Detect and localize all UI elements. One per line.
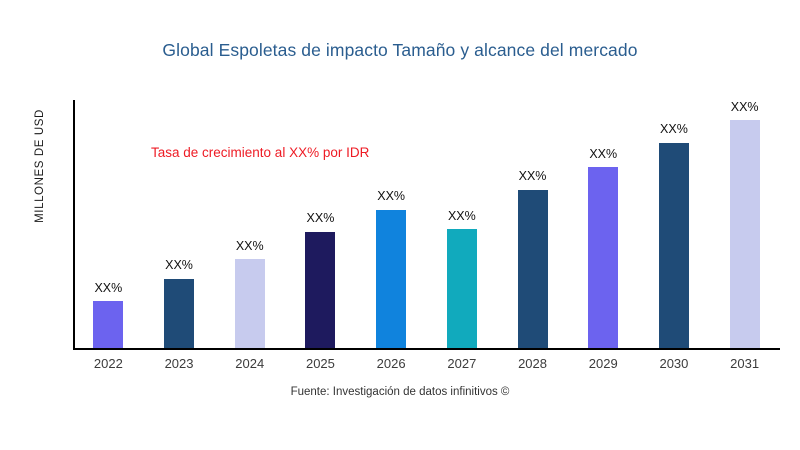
bar-value-label-2025: XX%	[307, 212, 335, 225]
bar-2030[interactable]	[659, 143, 689, 349]
x-tick-2029: 2029	[568, 356, 639, 371]
bar-value-label-2030: XX%	[660, 123, 688, 136]
x-axis-tick-labels: 2022202320242025202620272028202920302031	[73, 356, 780, 378]
bar-2023[interactable]	[164, 279, 194, 348]
bar-group-2028: XX%	[497, 100, 568, 348]
y-axis-label: MILLONES DE USD	[34, 66, 46, 266]
bar-series: XX%XX%XX%XX%XX%XX%XX%XX%XX%XX%	[73, 100, 780, 348]
x-tick-2022: 2022	[73, 356, 144, 371]
x-tick-2026: 2026	[356, 356, 427, 371]
bar-value-label-2029: XX%	[589, 148, 617, 161]
bar-value-label-2027: XX%	[448, 210, 476, 223]
x-axis-line	[73, 348, 780, 350]
bar-group-2023: XX%	[144, 100, 215, 348]
plot-area: Tasa de crecimiento al XX% por IDR XX%XX…	[73, 100, 780, 350]
bar-value-label-2028: XX%	[519, 170, 547, 183]
bar-value-label-2031: XX%	[731, 101, 759, 114]
x-tick-2028: 2028	[497, 356, 568, 371]
bar-2028[interactable]	[518, 190, 548, 349]
page-title: Global Espoletas de impacto Tamaño y alc…	[0, 40, 800, 61]
bar-group-2029: XX%	[568, 100, 639, 348]
bar-2029[interactable]	[588, 167, 618, 348]
bar-2022[interactable]	[93, 301, 123, 348]
bar-group-2031: XX%	[709, 100, 780, 348]
x-tick-2027: 2027	[427, 356, 498, 371]
x-tick-2025: 2025	[285, 356, 356, 371]
x-tick-2030: 2030	[639, 356, 710, 371]
bar-group-2026: XX%	[356, 100, 427, 348]
chart-container: Global Espoletas de impacto Tamaño y alc…	[0, 0, 800, 450]
x-tick-2023: 2023	[144, 356, 215, 371]
bar-2024[interactable]	[235, 259, 265, 348]
bar-group-2025: XX%	[285, 100, 356, 348]
source-caption: Fuente: Investigación de datos infinitiv…	[0, 386, 800, 398]
bar-group-2024: XX%	[214, 100, 285, 348]
bar-group-2022: XX%	[73, 100, 144, 348]
bar-value-label-2024: XX%	[236, 240, 264, 253]
x-tick-2031: 2031	[709, 356, 780, 371]
bar-group-2030: XX%	[639, 100, 710, 348]
bar-2025[interactable]	[305, 232, 335, 349]
bar-2026[interactable]	[376, 210, 406, 349]
bar-value-label-2026: XX%	[377, 190, 405, 203]
bar-group-2027: XX%	[427, 100, 498, 348]
bar-value-label-2022: XX%	[94, 282, 122, 295]
bar-value-label-2023: XX%	[165, 259, 193, 272]
bar-2027[interactable]	[447, 229, 477, 348]
x-tick-2024: 2024	[214, 356, 285, 371]
bar-2031[interactable]	[730, 120, 760, 348]
